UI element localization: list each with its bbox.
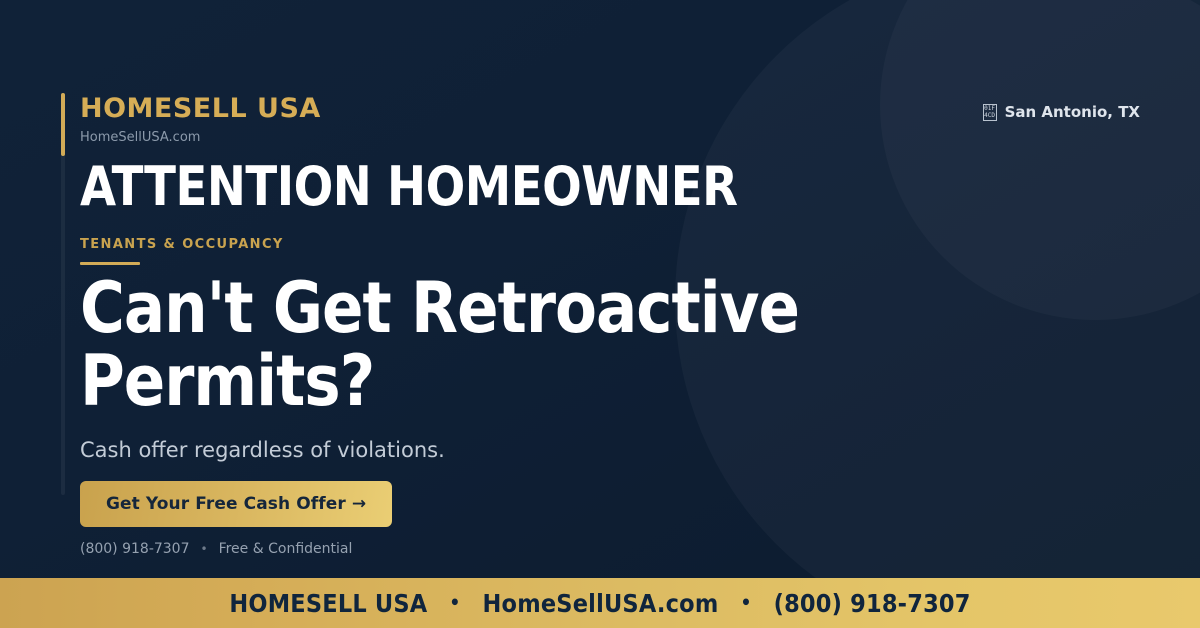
- subheadline: Cash offer regardless of violations.: [80, 437, 445, 464]
- trust-line: (800) 918-7307 • Free & Confidential: [80, 542, 352, 556]
- footer-separator-2-icon: •: [740, 594, 751, 613]
- attention-headline: ATTENTION HOMEOWNER: [80, 159, 738, 216]
- footer-bar: HOMESELL USA • HomeSellUSA.com • (800) 9…: [0, 578, 1200, 628]
- category-eyebrow-label: TENANTS & OCCUPANCY: [80, 238, 284, 251]
- brand-website: HomeSellUSA.com: [80, 131, 1140, 144]
- map-pin-icon-code-bottom: 4CD: [984, 112, 995, 119]
- footer-brand: HOMESELL USA: [229, 589, 427, 618]
- trust-phone[interactable]: (800) 918-7307: [80, 542, 190, 556]
- ad-canvas: HOMESELL USA HomeSellUSA.com 01F 4CD San…: [0, 0, 1200, 628]
- brand-name: HOMESELL USA: [80, 94, 1140, 124]
- location-label: San Antonio, TX: [1005, 103, 1140, 121]
- footer-phone[interactable]: (800) 918-7307: [774, 589, 971, 618]
- category-eyebrow-underline: [80, 262, 140, 265]
- location-badge: 01F 4CD San Antonio, TX: [983, 103, 1140, 121]
- trust-separator-icon: •: [201, 543, 208, 555]
- ad-content: HOMESELL USA HomeSellUSA.com 01F 4CD San…: [80, 0, 1200, 628]
- main-headline: Can't Get Retroactive Permits?: [80, 272, 875, 418]
- brand-header: HOMESELL USA HomeSellUSA.com 01F 4CD San…: [80, 94, 1140, 144]
- map-pin-icon: 01F 4CD: [983, 104, 997, 121]
- cta-button[interactable]: Get Your Free Cash Offer →: [80, 481, 392, 527]
- trust-note: Free & Confidential: [219, 542, 353, 556]
- footer-website[interactable]: HomeSellUSA.com: [483, 589, 719, 618]
- left-accent-rail-gold: [61, 93, 65, 156]
- map-pin-icon-code-top: 01F: [984, 105, 995, 112]
- footer-separator-1-icon: •: [449, 594, 460, 613]
- category-eyebrow: TENANTS & OCCUPANCY: [80, 238, 284, 265]
